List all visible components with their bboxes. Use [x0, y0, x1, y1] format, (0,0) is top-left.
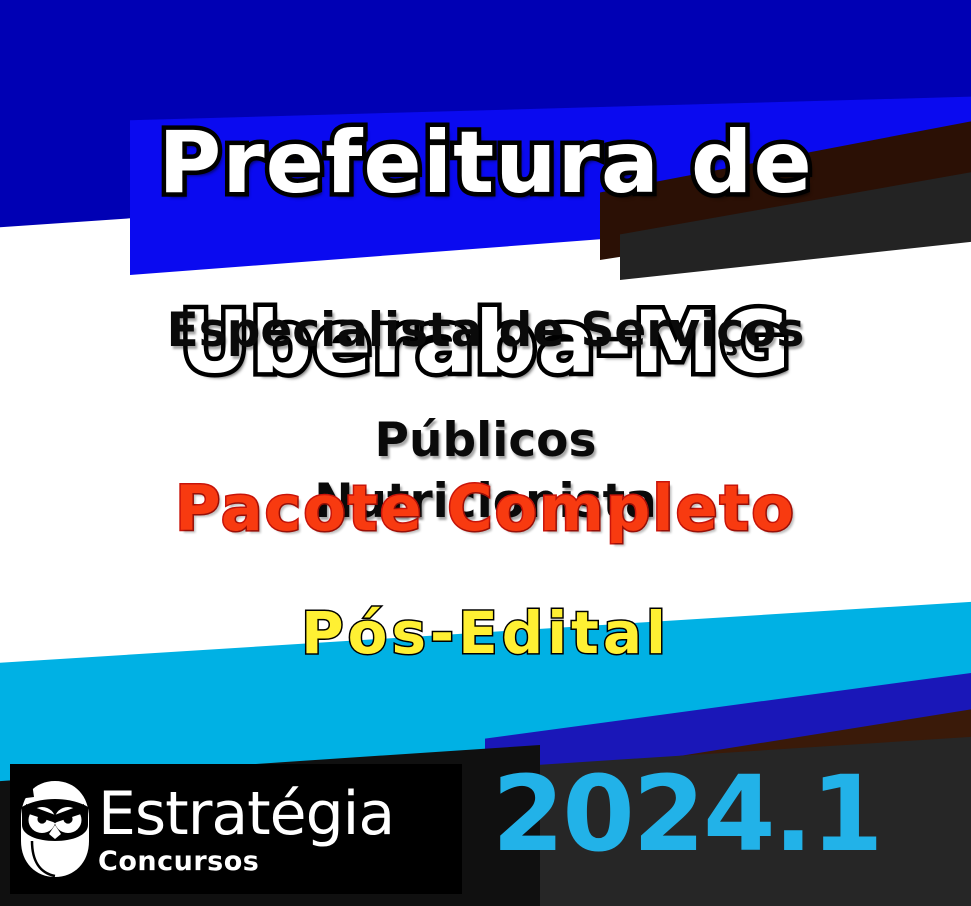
brand-logo: Estratégia Concursos	[10, 764, 462, 894]
headline-line-1: Prefeitura de	[0, 120, 971, 206]
year-label: 2024.1	[492, 762, 881, 866]
package-label: Pacote Completo	[0, 478, 971, 540]
owl-icon	[18, 777, 92, 881]
brand-wordmark: Estratégia Concursos	[98, 784, 394, 875]
subhead-line-2: Públicos	[375, 413, 597, 468]
brand-name: Estratégia	[98, 784, 394, 844]
brand-tagline: Concursos	[98, 848, 394, 875]
phase-label: Pós-Edital	[0, 604, 971, 662]
subhead-line-1: Especialista de Serviços	[167, 303, 805, 358]
course-cover-poster: Prefeitura de Uberaba-MG Especialista de…	[0, 0, 971, 906]
